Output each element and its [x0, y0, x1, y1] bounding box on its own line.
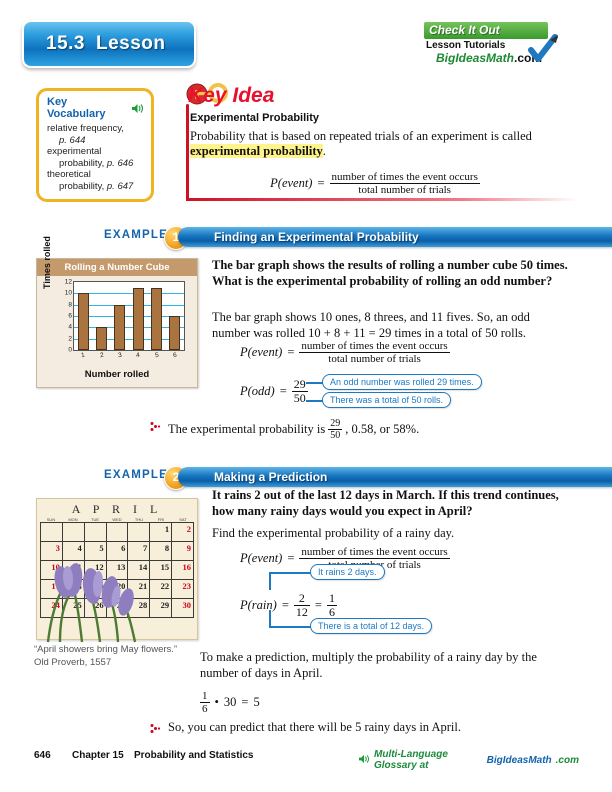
chart-x-tick: 3: [118, 352, 123, 359]
chart-gridline: [74, 339, 184, 340]
prediction-eq-factor: 30: [224, 695, 237, 710]
crocus-flowers-icon: [30, 548, 160, 643]
example-1-formula-eq: =: [287, 345, 294, 360]
vocab-term-2: theoretical: [47, 169, 144, 181]
example-1-callout-1: There was a total of 50 rolls.: [322, 392, 451, 408]
chart-bar: [151, 288, 162, 350]
prediction-eq-denominator: 6: [200, 703, 210, 715]
calendar-dow: SUN: [40, 517, 62, 522]
key-vocabulary-box: Key Vocabulary relative frequency, p. 64…: [36, 88, 154, 202]
prediction-eq-numerator: 1: [200, 690, 210, 703]
example-2-callout-0: It rains 2 days.: [310, 564, 385, 580]
prediction-eq-value: 5: [253, 695, 259, 710]
example-1-formula-denominator: total number of trials: [299, 353, 449, 365]
footer-chapter-title: Probability and Statistics: [134, 750, 253, 761]
key-vocabulary-heading: Key Vocabulary: [47, 96, 144, 120]
chart-y-tick: 4: [68, 324, 72, 331]
key-idea-formula: P(event) = number of times the event occ…: [190, 171, 560, 196]
example-2-explanation: Find the experimental probability of a r…: [212, 526, 568, 542]
chart-gridline: [74, 305, 184, 306]
example-1-formula-lhs: P(event): [240, 345, 282, 360]
example-2-result-eq2: =: [315, 598, 322, 613]
example-1-title: Finding an Experimental Probability: [178, 227, 612, 247]
example-2-callout-0-arrow-h: [269, 572, 315, 574]
example-1-title-bar: Finding an Experimental Probability: [178, 227, 612, 247]
key-idea-highlight: experimental probability: [190, 144, 323, 158]
calendar-day-cell: 23: [172, 580, 194, 599]
check-it-out-badge[interactable]: Check It Out Lesson Tutorials BigIdeasMa…: [424, 22, 572, 66]
calendar-day-cell: [63, 523, 85, 542]
key-vocabulary-list: relative frequency, p. 644 experimental …: [47, 123, 144, 192]
example-1-formula-numerator: number of times the event occurs: [299, 340, 449, 353]
vocab-term-1: experimental: [47, 146, 144, 158]
chart-y-tick: 0: [68, 347, 72, 354]
example-1-explanation: The bar graph shows 10 ones, 8 threes, a…: [212, 310, 568, 341]
chart-bar: [78, 293, 89, 350]
key-idea-formula-lhs: P(event): [270, 176, 312, 191]
chart-y-tick: 10: [65, 290, 72, 297]
example-2-formula-lhs: P(event): [240, 551, 282, 566]
calendar-caption: “April showers bring May flowers.” Old P…: [34, 643, 184, 669]
key-idea-body: Probability that is based on repeated tr…: [190, 129, 560, 159]
speaker-icon[interactable]: [131, 103, 144, 114]
check-it-out-subtitle: Lesson Tutorials: [426, 40, 505, 51]
key-idea-body-after: .: [323, 144, 326, 158]
calendar-day-cell: [85, 523, 107, 542]
chart-gridline: [74, 316, 184, 317]
chart-bar: [96, 327, 107, 350]
chart-y-tick: 2: [68, 335, 72, 342]
chart-title: Rolling a Number Cube: [37, 259, 197, 276]
chart-gridline: [74, 327, 184, 328]
check-it-out-site: BigIdeasMath.com: [436, 51, 542, 65]
vocab-term-0: relative frequency,: [47, 123, 144, 135]
vocab-cont-1: probability,: [59, 158, 107, 169]
example-1-formula: P(event) = number of times the event occ…: [240, 340, 450, 365]
key-idea-formula-numerator: number of times the event occurs: [330, 171, 480, 184]
check-mark-pencil-icon: [528, 34, 560, 64]
chart-x-tick: 4: [136, 352, 141, 359]
calendar-dow: THU: [128, 517, 150, 522]
example-2-result-numerator: 2: [294, 592, 310, 606]
calendar-day-cell: 1: [150, 523, 172, 542]
chart-bar: [133, 288, 144, 350]
red-arrow-bullet-icon: [150, 723, 161, 734]
lesson-number: 15.3: [46, 33, 85, 54]
lesson-word: Lesson: [96, 33, 166, 54]
vocab-page-2: p. 647: [107, 181, 133, 192]
calendar-day-cell: 16: [172, 561, 194, 580]
calendar-dow: MON: [62, 517, 84, 522]
example-2-label: EXAMPLE: [104, 469, 168, 481]
key-idea-formula-denominator: total number of trials: [330, 184, 480, 196]
footer-glossary-prefix: Multi-Language Glossary at: [374, 749, 483, 771]
example-2-callout-1-arrow-h: [269, 626, 315, 628]
calendar-day-cell: 9: [172, 542, 194, 561]
key-vocabulary-label: Key Vocabulary: [47, 96, 128, 120]
example-2-formula-numerator: number of times the event occurs: [299, 546, 449, 559]
chart-x-tick: 6: [173, 352, 178, 359]
footer-chapter: Chapter 15: [72, 750, 134, 761]
example-2-prompt: It rains 2 out of the last 12 days in Ma…: [212, 488, 572, 519]
example-1-conclusion: The experimental probability is 29 50 , …: [168, 418, 498, 441]
calendar-day-cell: 30: [172, 599, 194, 618]
footer-glossary-suffix: .com: [556, 755, 579, 766]
page-footer: 646Chapter 15Probability and Statistics …: [34, 750, 579, 761]
chart-y-tick: 6: [68, 313, 72, 320]
chart-bar: [169, 316, 180, 350]
lesson-page: 15.3Lesson Check It Out Lesson Tutorials…: [0, 0, 612, 792]
example-1-conclusion-post: , 0.58, or 58%.: [345, 422, 419, 438]
example-1-result: P(odd) = 29 50: [240, 378, 308, 405]
key-idea-formula-eq: =: [317, 176, 324, 191]
lesson-title-text: 15.3Lesson: [24, 33, 166, 55]
calendar-dow: TUE: [84, 517, 106, 522]
example-1-result-denominator: 50: [292, 392, 308, 405]
example-2-title: Making a Prediction: [178, 467, 612, 487]
key-idea-left-rule: [186, 104, 189, 200]
example-2-formula-eq: =: [287, 551, 294, 566]
key-idea-body-before: Probability that is based on repeated tr…: [190, 129, 532, 143]
example-2-result: P(rain) = 2 12 = 1 6: [240, 592, 337, 619]
vocab-page-0: p. 644: [59, 135, 85, 146]
example-2-result-numerator2: 1: [327, 592, 337, 606]
example-2-title-bar: Making a Prediction: [178, 467, 612, 487]
example-1-conclusion-pre: The experimental probability is: [168, 422, 325, 438]
lesson-title-pill: 15.3Lesson: [22, 20, 196, 68]
example-1-conclusion-den: 50: [328, 430, 342, 441]
vocab-cont-2: probability,: [59, 181, 107, 192]
example-2-result-denominator: 12: [294, 606, 310, 619]
calendar-day-cell: 2: [172, 523, 194, 542]
bar-chart-card: Rolling a Number Cube Times rolled 02468…: [36, 258, 198, 388]
key-idea-box: Experimental Probability Probability tha…: [190, 112, 560, 196]
example-1-result-eq: =: [280, 384, 287, 399]
prediction-eq-equals: =: [241, 695, 248, 710]
calendar-day-headers: SUNMONTUEWEDTHUFRISAT: [37, 517, 197, 522]
chart-plot-area: 024681012123456: [73, 281, 185, 351]
calendar-dow: SAT: [172, 517, 194, 522]
key-idea-bottom-rule: [186, 198, 578, 201]
example-2-result-eq: =: [282, 598, 289, 613]
example-1-prompt: The bar graph shows the results of rolli…: [212, 258, 568, 289]
chart-y-tick: 8: [68, 301, 72, 308]
example-2-prediction-equation: 1 6 • 30 = 5: [200, 690, 260, 715]
example-1-result-numerator: 29: [292, 378, 308, 392]
vocab-page-1: p. 646: [107, 158, 133, 169]
example-1-callout-0: An odd number was rolled 29 times.: [322, 374, 482, 390]
chart-x-tick: 5: [154, 352, 159, 359]
example-2-callout-1: There is a total of 12 days.: [310, 618, 432, 634]
calendar-day-cell: [107, 523, 129, 542]
prediction-eq-op: •: [215, 695, 219, 710]
calendar-month: A P R I L: [37, 499, 197, 517]
example-2-result-lhs: P(rain): [240, 598, 277, 613]
example-1-conclusion-num: 29: [328, 418, 342, 430]
example-1-result-lhs: P(odd): [240, 384, 275, 399]
example-2-prediction-text: To make a prediction, multiply the proba…: [200, 650, 560, 681]
footer-glossary-site: BigIdeasMath: [487, 755, 552, 766]
chart-x-tick: 2: [99, 352, 104, 359]
calendar-dow: FRI: [150, 517, 172, 522]
calendar-day-cell: [128, 523, 150, 542]
footer-page-number: 646: [34, 750, 72, 761]
red-arrow-bullet-icon: [150, 421, 161, 432]
chart-y-axis-label: Times rolled: [42, 236, 52, 289]
key-idea-heading: Experimental Probability: [190, 112, 560, 124]
chart-x-axis-label: Number rolled: [37, 369, 197, 380]
chart-x-tick: 1: [81, 352, 86, 359]
example-2-callout-0-arrow-v: [269, 572, 271, 590]
footer-glossary-link[interactable]: Multi-Language Glossary at BigIdeasMath.…: [358, 749, 579, 771]
example-2-conclusion: So, you can predict that there will be 5…: [168, 720, 528, 736]
speaker-icon: [358, 754, 370, 767]
calendar-day-cell: [41, 523, 63, 542]
example-1-label: EXAMPLE: [104, 229, 168, 241]
chart-y-tick: 12: [65, 279, 72, 286]
chart-bar: [114, 305, 125, 350]
key-idea-title: Key Idea: [188, 84, 274, 108]
calendar-dow: WED: [106, 517, 128, 522]
chart-gridline: [74, 293, 184, 294]
